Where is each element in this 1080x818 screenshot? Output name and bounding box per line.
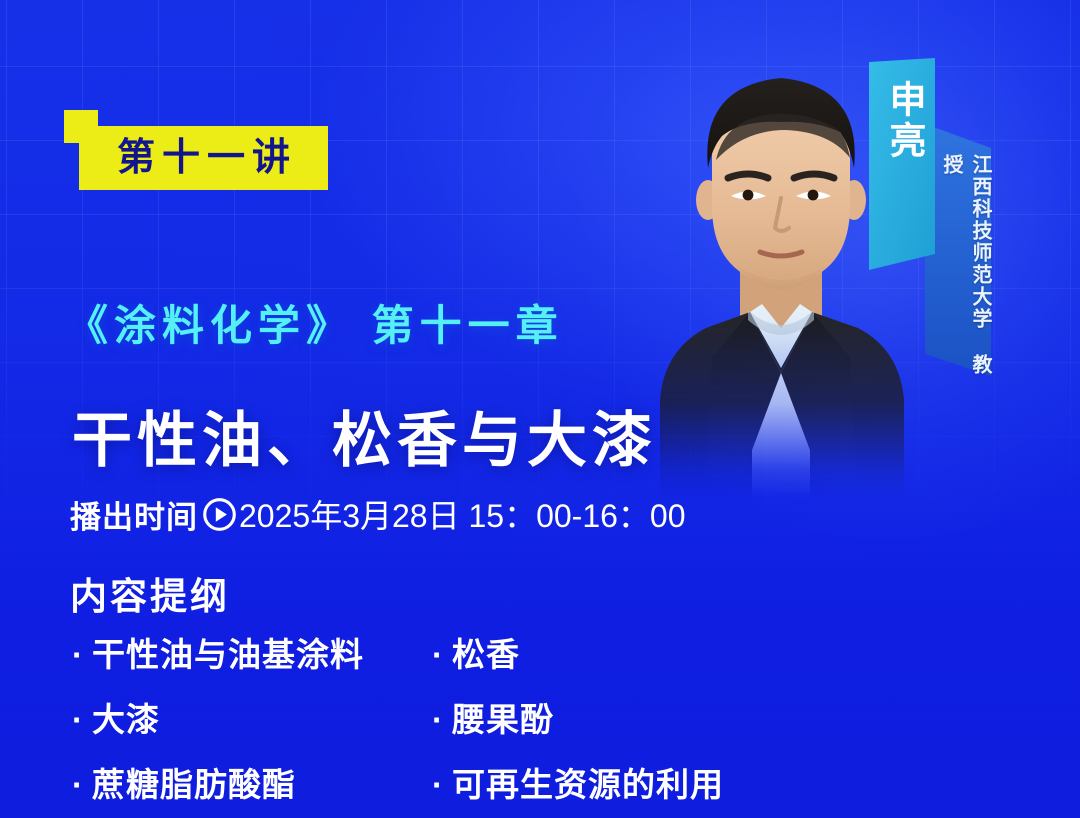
list-item-label: 干性油与油基涂料 bbox=[92, 628, 364, 676]
list-item: · 可再生资源的利用 bbox=[432, 758, 792, 806]
lecture-poster: 第十一讲 申亮 江西科技师范大学 教授 《涂料化学》 第十一章 干性油 bbox=[0, 0, 1080, 818]
play-icon-glyph bbox=[202, 497, 237, 532]
bullet-icon: · bbox=[432, 768, 444, 801]
bullet-icon: · bbox=[432, 638, 444, 671]
speaker-affiliation: 江西科技师范大学 教授 bbox=[937, 154, 995, 384]
list-item-label: 蔗糖脂肪酸酯 bbox=[92, 758, 296, 806]
page-title: 干性油、松香与大漆 bbox=[72, 392, 657, 479]
list-item: · 大漆 bbox=[72, 693, 432, 741]
list-item-label: 可再生资源的利用 bbox=[452, 758, 724, 806]
play-icon bbox=[202, 497, 237, 532]
list-item: · 松香 bbox=[432, 628, 792, 676]
airtime-value: 2025年3月28日 15：00-16：00 bbox=[239, 491, 686, 537]
list-item: · 蔗糖脂肪酸酯 bbox=[72, 758, 432, 806]
outline-list: · 干性油与油基涂料 · 松香 · 大漆 · 腰果酚 · 蔗糖脂肪酸酯 · 可再… bbox=[72, 628, 972, 806]
list-item-label: 大漆 bbox=[92, 693, 160, 741]
list-item-label: 松香 bbox=[452, 628, 520, 676]
speaker-ribbon: 申亮 江西科技师范大学 教授 bbox=[865, 58, 991, 388]
bullet-icon: · bbox=[72, 638, 84, 671]
list-item: · 干性油与油基涂料 bbox=[72, 628, 432, 676]
airtime-label: 播出时间 bbox=[70, 492, 198, 537]
bullet-icon: · bbox=[72, 768, 84, 801]
list-item-label: 腰果酚 bbox=[452, 693, 554, 741]
bullet-icon: · bbox=[72, 703, 84, 736]
list-item: · 腰果酚 bbox=[432, 693, 792, 741]
airtime-row: 播出时间 2025年3月28日 15：00-16：00 bbox=[70, 491, 686, 537]
bullet-icon: · bbox=[432, 703, 444, 736]
lecture-number-label: 第十一讲 bbox=[110, 139, 297, 177]
outline-heading: 内容提纲 bbox=[70, 566, 230, 620]
course-subtitle: 《涂料化学》 第十一章 bbox=[66, 292, 564, 353]
lecture-number-badge: 第十一讲 bbox=[79, 126, 328, 190]
speaker-name: 申亮 bbox=[877, 80, 933, 280]
